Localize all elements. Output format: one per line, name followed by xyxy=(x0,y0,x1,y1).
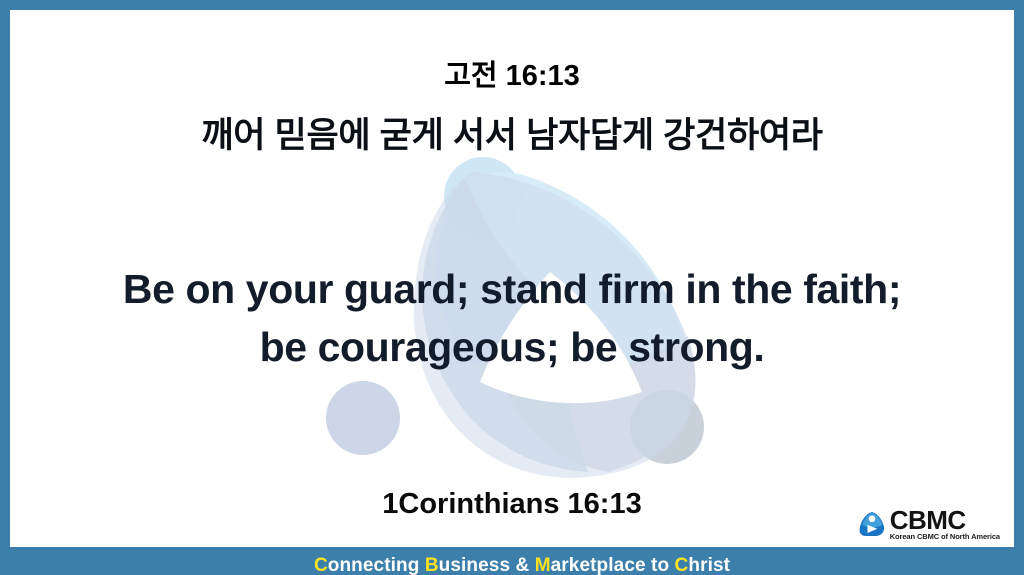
cbmc-logo-subtitle: Korean CBMC of North America xyxy=(890,533,1000,541)
cbmc-logo-text: CBMC Korean CBMC of North America xyxy=(890,508,1000,541)
english-verse-line-2: be courageous; be strong. xyxy=(40,318,984,376)
footer-tagline-segment: arketplace to xyxy=(551,555,675,575)
footer-tagline-segment: usiness & xyxy=(439,555,535,575)
cbmc-logo: CBMC Korean CBMC of North America xyxy=(857,508,1000,541)
slide-content: 고전 16:13 깨어 믿음에 굳게 서서 남자답게 강건하여라 Be on y… xyxy=(10,10,1014,575)
footer-tagline: Connecting Business & Marketplace to Chr… xyxy=(314,555,730,575)
footer-bar: Connecting Business & Marketplace to Chr… xyxy=(10,547,1024,575)
korean-verse-text: 깨어 믿음에 굳게 서서 남자답게 강건하여라 xyxy=(10,107,1014,158)
footer-tagline-segment: hrist xyxy=(688,555,730,575)
footer-tagline-segment: M xyxy=(535,555,551,575)
cbmc-logo-mark-icon xyxy=(857,509,887,539)
footer-tagline-segment: onnecting xyxy=(328,555,425,575)
english-verse-text: Be on your guard; stand firm in the fait… xyxy=(40,260,984,376)
slide-canvas: 고전 16:13 깨어 믿음에 굳게 서서 남자답게 강건하여라 Be on y… xyxy=(0,0,1024,575)
footer-tagline-segment: C xyxy=(314,555,328,575)
english-verse-line-1: Be on your guard; stand firm in the fait… xyxy=(40,260,984,318)
footer-tagline-segment: B xyxy=(425,555,439,575)
korean-verse-reference: 고전 16:13 xyxy=(10,52,1014,94)
footer-tagline-segment: C xyxy=(675,555,689,575)
cbmc-wordmark: CBMC xyxy=(890,508,966,532)
